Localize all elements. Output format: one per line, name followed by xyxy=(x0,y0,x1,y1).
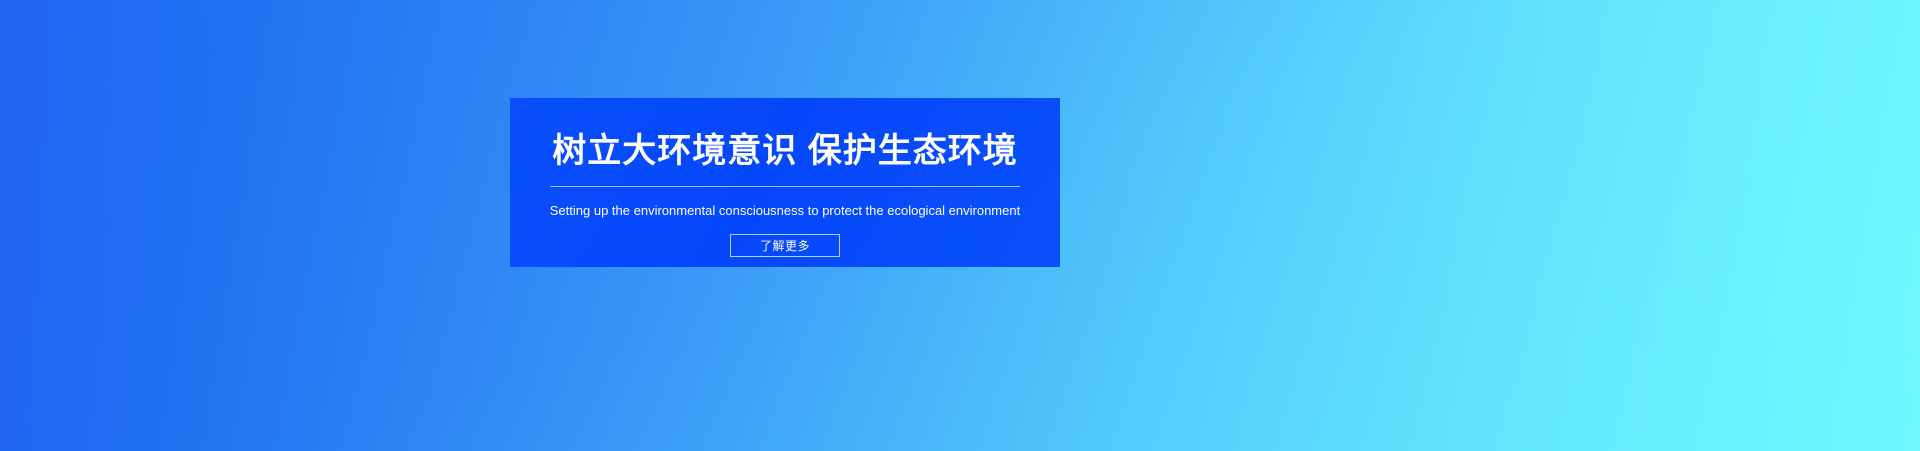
learn-more-button[interactable]: 了解更多 xyxy=(730,234,840,257)
hero-content-panel: 树立大环境意识 保护生态环境 Setting up the environmen… xyxy=(510,98,1060,267)
hero-headline: 树立大环境意识 保护生态环境 xyxy=(552,134,1017,168)
hero-banner: 树立大环境意识 保护生态环境 Setting up the environmen… xyxy=(0,0,1920,451)
headline-divider xyxy=(550,186,1020,187)
hero-subtitle: Setting up the environmental consciousne… xyxy=(550,204,1020,217)
